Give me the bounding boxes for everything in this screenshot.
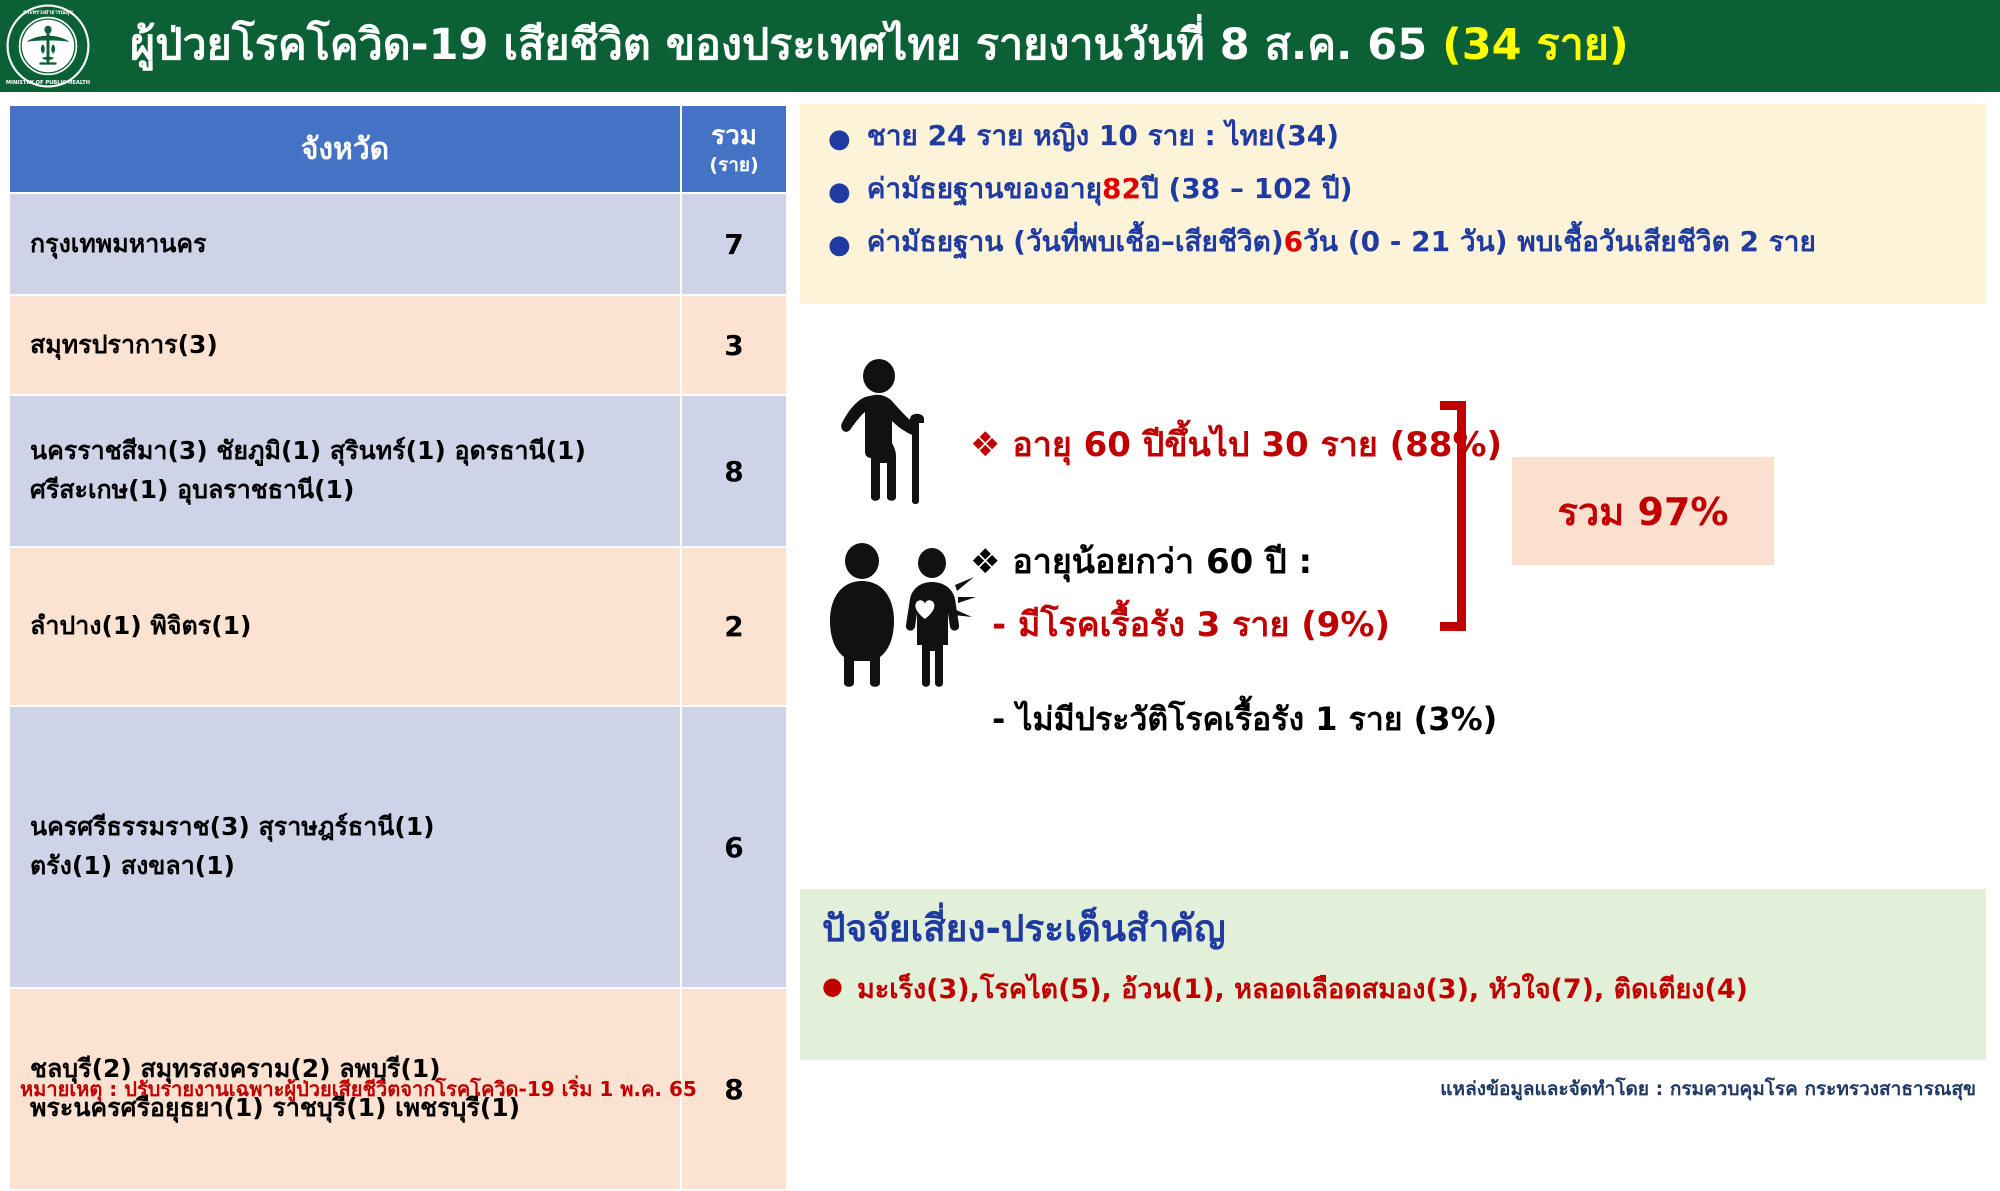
summary-text-median-days-prefix: ค่ามัธยฐาน (วันที่พบเชื้อ–เสียชีวิต) [867, 224, 1284, 259]
footer-source: แหล่งข้อมูลและจัดทำโดย : กรมควบคุมโรค กร… [1440, 1074, 1976, 1104]
age-under-60-header: ❖ อายุน้อยกว่า 60 ปี : [970, 534, 1312, 588]
province-line-2: ศรีสะเกษ(1) อุบลราชธานี(1) [30, 471, 670, 510]
column-header-total-unit: (ราย) [696, 155, 772, 177]
summary-item-median-age: ● ค่ามัธยฐานของอายุ 82 ปี (38 – 102 ปี) [800, 171, 1986, 206]
summary-text-sex: ชาย 24 ราย หญิง 10 ราย : ไทย(34) [867, 118, 1339, 153]
province-line-1: กรุงเทพมหานคร [30, 225, 670, 264]
province-line-1: ลำปาง(1) พิจิตร(1) [30, 607, 670, 646]
footer-note: หมายเหตุ : ปรับรายงานเฉพาะผู้ป่วยเสียชีว… [20, 1073, 697, 1105]
summary-item-median-days: ● ค่ามัธยฐาน (วันที่พบเชื้อ–เสียชีวิต) 6… [800, 224, 1986, 259]
cell-total: 2 [681, 547, 787, 706]
table-row: นครราชสีมา(3) ชัยภูมิ(1) สุรินทร์(1) อุด… [9, 395, 787, 547]
province-death-table: จังหวัด รวม (ราย) กรุงเทพมหานคร 7 สมุทรป… [8, 104, 788, 1191]
cell-total: 7 [681, 193, 787, 295]
obese-person-and-heart-disease-person-icon [822, 541, 977, 691]
summary-item-sex-nationality: ● ชาย 24 ราย หญิง 10 ราย : ไทย(34) [800, 118, 1986, 153]
page-title: ผู้ป่วยโรคโควิด-19 เสียชีวิต ของประเทศไท… [96, 23, 2000, 68]
cell-provinces: นครราชสีมา(3) ชัยภูมิ(1) สุรินทร์(1) อุด… [9, 395, 681, 547]
table-row: กรุงเทพมหานคร 7 [9, 193, 787, 295]
table-row: นครศรีธรรมราช(3) สุราษฎร์ธานี(1) ตรัง(1)… [9, 706, 787, 988]
elderly-person-with-cane-icon [832, 357, 952, 507]
page-title-main: ผู้ป่วยโรคโควิด-19 เสียชีวิต ของประเทศไท… [130, 20, 1442, 70]
table-row: สมุทรปราการ(3) 3 [9, 295, 787, 395]
cell-provinces: ลำปาง(1) พิจิตร(1) [9, 547, 681, 706]
province-line-1: สมุทรปราการ(3) [30, 326, 670, 365]
age-60-and-over-line: ❖ อายุ 60 ปีขึ้นไป 30 ราย (88%) [970, 417, 1502, 471]
summary-text-median-days-suffix: วัน (0 - 21 วัน) พบเชื้อวันเสียชีวิต 2 ร… [1303, 224, 1816, 259]
cell-provinces: กรุงเทพมหานคร [9, 193, 681, 295]
province-line-1: นครราชสีมา(3) ชัยภูมิ(1) สุรินทร์(1) อุด… [30, 432, 670, 471]
bullet-icon: ● [828, 232, 851, 258]
summary-median-age-value: 82 [1102, 171, 1141, 206]
province-line-2: ตรัง(1) สงขลา(1) [30, 847, 670, 886]
cell-total: 8 [681, 395, 787, 547]
summary-median-days-value: 6 [1284, 224, 1303, 259]
bullet-icon: ● [822, 972, 843, 1000]
combined-percentage-badge: รวม 97% [1512, 457, 1774, 565]
svg-text:กระทรวงสาธารณสุข: กระทรวงสาธารณสุข [23, 9, 73, 16]
ministry-of-public-health-seal-icon: กระทรวงสาธารณสุข MINISTRY OF PUBLIC HEAL… [0, 0, 96, 92]
page-header: กระทรวงสาธารณสุข MINISTRY OF PUBLIC HEAL… [0, 0, 2000, 92]
column-header-total-label: รวม [711, 121, 757, 151]
bullet-icon: ● [828, 126, 851, 152]
risk-factors-title: ปัจจัยเสี่ยง-ประเด็นสำคัญ [822, 907, 1986, 951]
column-header-total: รวม (ราย) [681, 105, 787, 193]
age-under-60-no-chronic-disease: - ไม่มีประวัติโรคเรื้อรัง 1 ราย (3%) [992, 694, 1497, 745]
column-header-province: จังหวัด [9, 105, 681, 193]
bullet-icon: ● [828, 179, 851, 205]
summary-text-median-age-prefix: ค่ามัธยฐานของอายุ [867, 171, 1102, 206]
cell-total: 6 [681, 706, 787, 988]
province-table-container: จังหวัด รวม (ราย) กรุงเทพมหานคร 7 สมุทรป… [8, 104, 786, 1191]
page-title-count: (34 ราย) [1442, 20, 1629, 70]
summary-text-median-age-suffix: ปี (38 – 102 ปี) [1141, 171, 1353, 206]
cell-provinces: นครศรีธรรมราช(3) สุราษฎร์ธานี(1) ตรัง(1)… [9, 706, 681, 988]
risk-factors-text: มะเร็ง(3),โรคไต(5), อ้วน(1), หลอดเลือดสม… [857, 967, 1748, 1010]
grouping-bracket-icon [1440, 401, 1466, 631]
cell-total: 3 [681, 295, 787, 395]
risk-factors-box: ปัจจัยเสี่ยง-ประเด็นสำคัญ ● มะเร็ง(3),โร… [800, 889, 1986, 1060]
right-panel: ● ชาย 24 ราย หญิง 10 ราย : ไทย(34) ● ค่า… [800, 104, 1986, 1060]
province-line-1: นครศรีธรรมราช(3) สุราษฎร์ธานี(1) [30, 808, 670, 847]
age-statistics-block: ❖ อายุ 60 ปีขึ้นไป 30 ราย (88%) ❖ อายุน้… [800, 309, 1986, 849]
table-row: ลำปาง(1) พิจิตร(1) 2 [9, 547, 787, 706]
risk-factors-item: ● มะเร็ง(3),โรคไต(5), อ้วน(1), หลอดเลือด… [822, 967, 1986, 1010]
summary-info-box: ● ชาย 24 ราย หญิง 10 ราย : ไทย(34) ● ค่า… [800, 104, 1986, 304]
cell-provinces: สมุทรปราการ(3) [9, 295, 681, 395]
age-under-60-with-chronic-disease: - มีโรคเรื้อรัง 3 ราย (9%) [992, 597, 1390, 651]
svg-text:MINISTRY OF PUBLIC HEALTH: MINISTRY OF PUBLIC HEALTH [6, 80, 90, 86]
table-header-row: จังหวัด รวม (ราย) [9, 105, 787, 193]
